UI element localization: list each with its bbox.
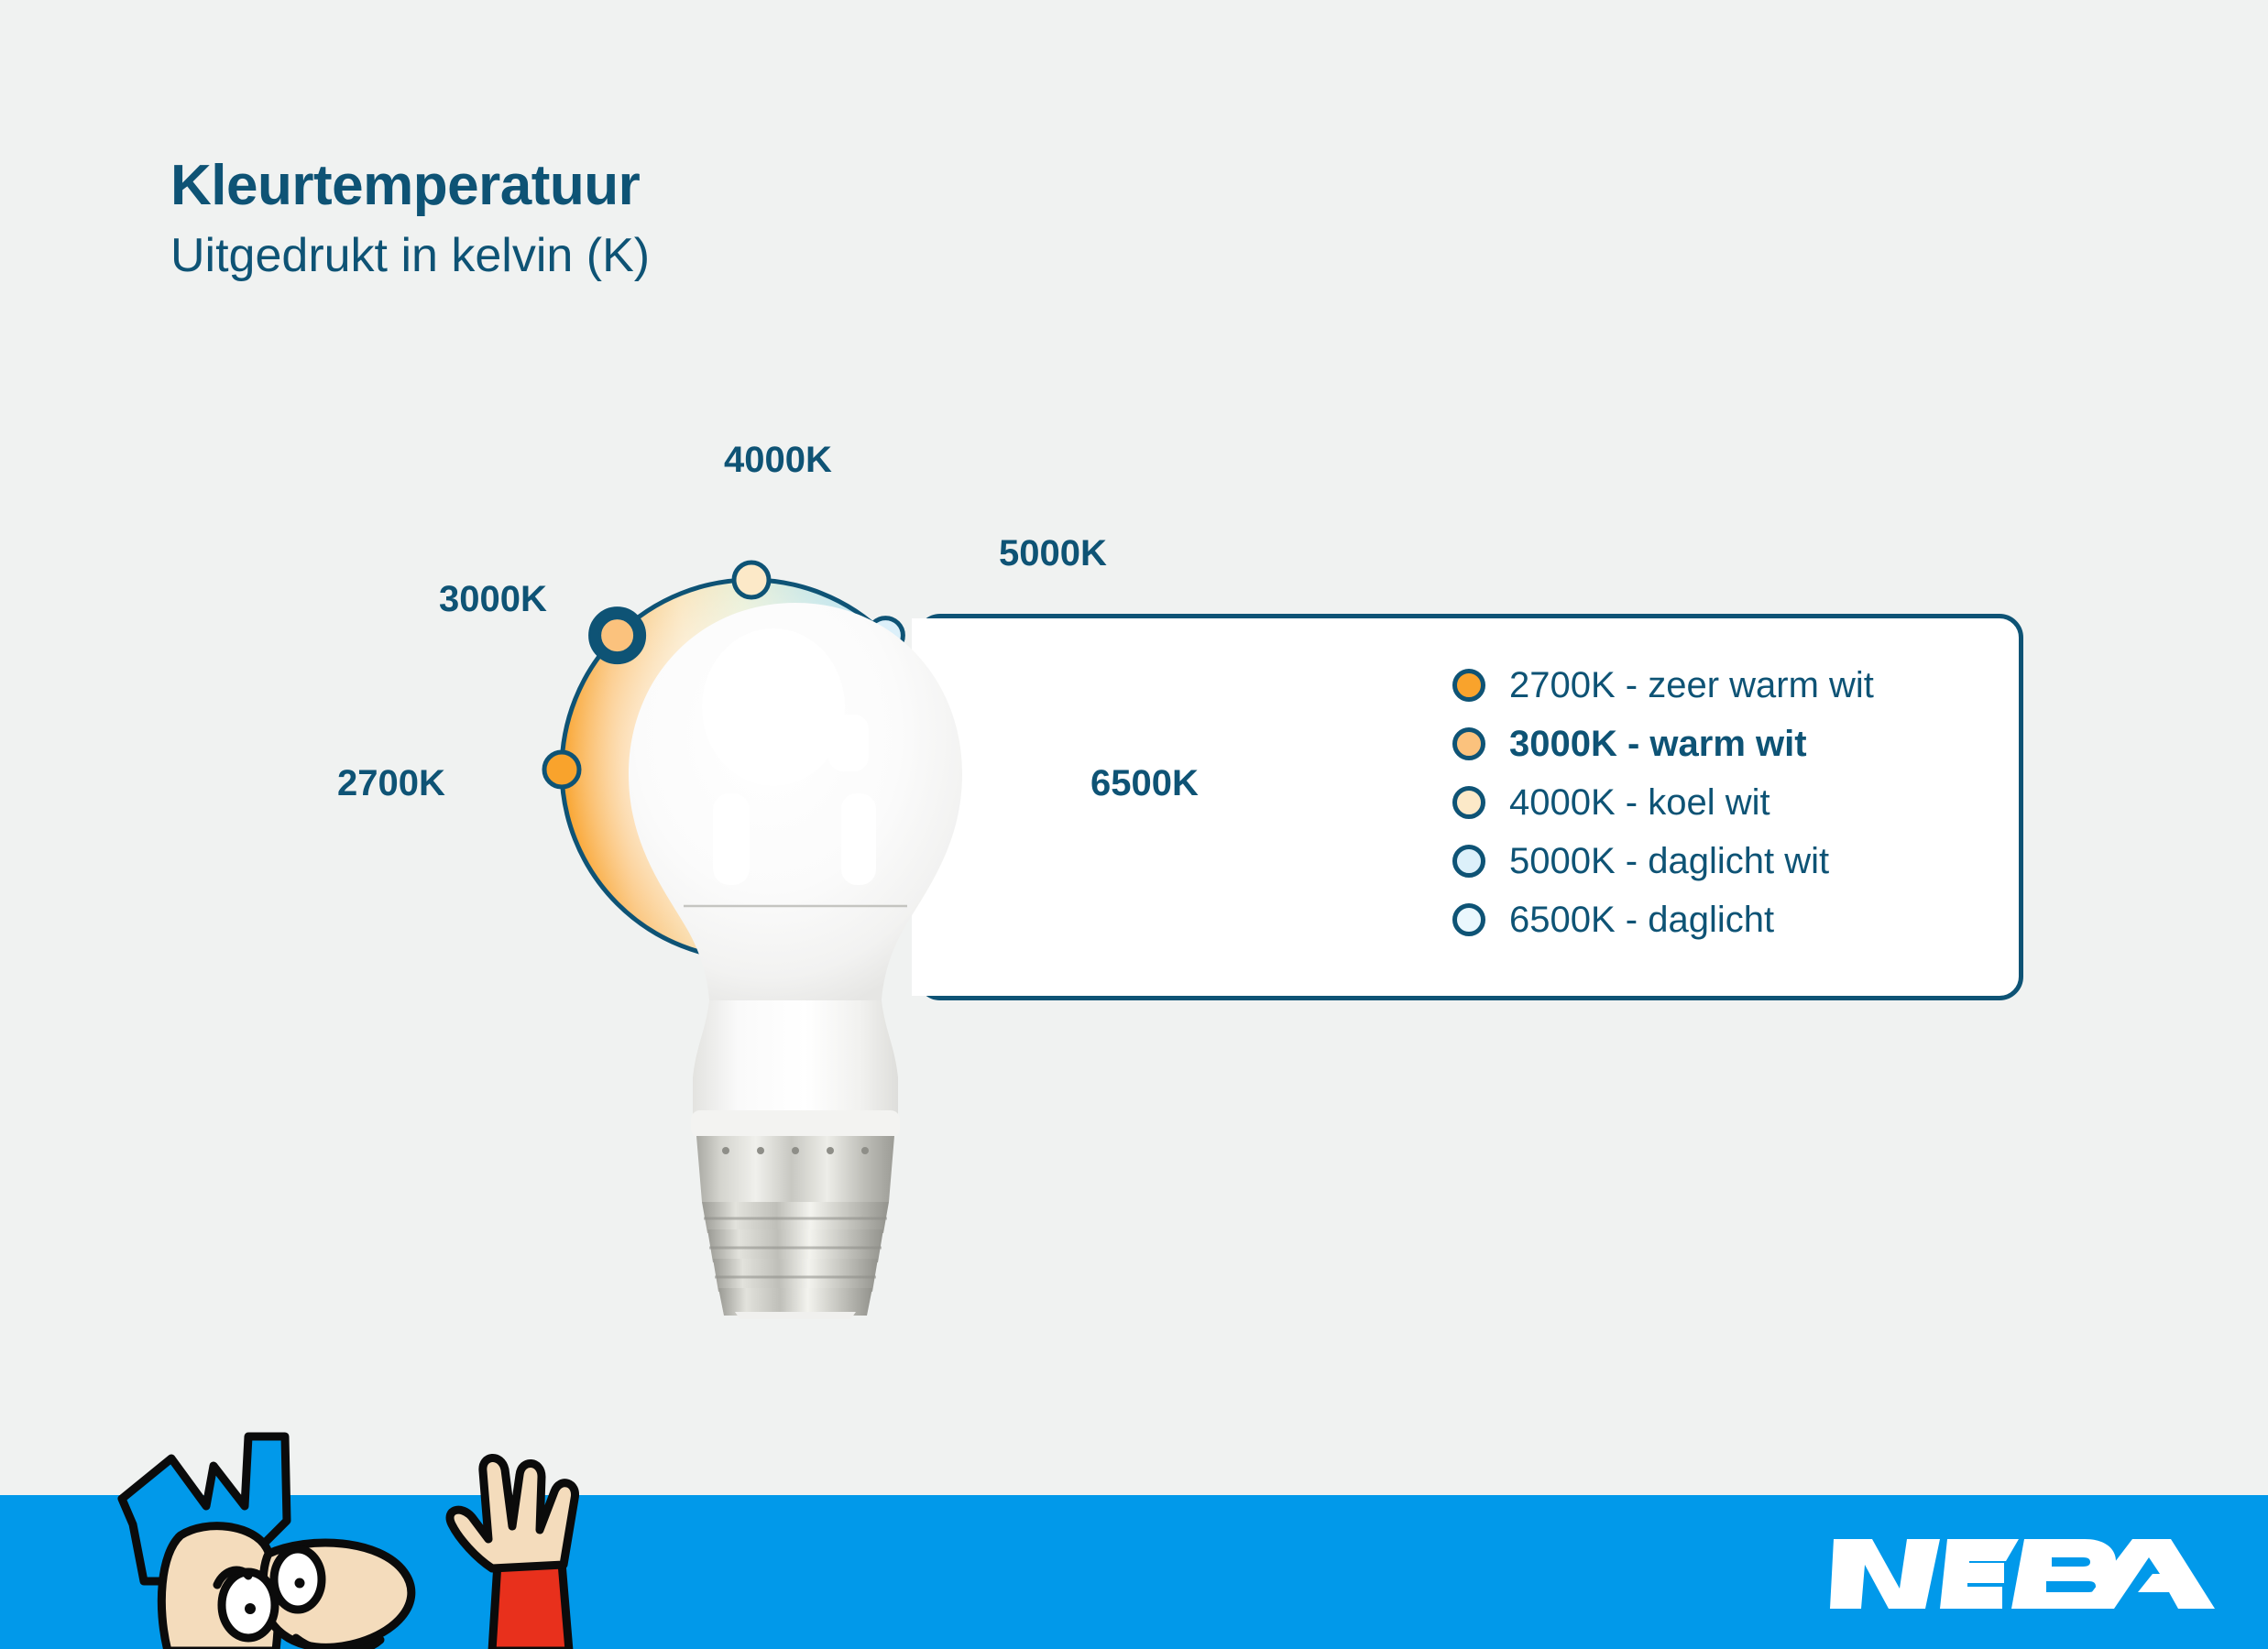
bulb-base-dot <box>792 1147 799 1154</box>
weba-mascot <box>69 1411 637 1649</box>
legend-dot-2700k <box>1452 669 1485 702</box>
legend-label-2700k: 2700K - zeer warm wit <box>1509 665 1874 706</box>
bulb-base-dot <box>827 1147 834 1154</box>
legend-list: 2700K - zeer warm wit 3000K - warm wit 4… <box>1452 656 1874 949</box>
legend-item-3000k[interactable]: 3000K - warm wit <box>1452 715 1874 773</box>
bulb-highlight-right <box>841 793 876 885</box>
legend-label-4000k: 4000K - koel wit <box>1509 782 1770 824</box>
mascot-sleeve <box>492 1563 569 1649</box>
weba-logo-letter-e <box>1940 1539 2019 1609</box>
legend-dot-3000k <box>1452 727 1485 760</box>
bulb-base-tip <box>735 1312 856 1319</box>
bulb-screw-thread <box>702 1202 889 1316</box>
weba-logo-letter-w <box>1830 1539 1940 1609</box>
mascot-pupil-right <box>295 1578 305 1589</box>
light-bulb-illustration <box>612 586 979 1319</box>
bulb-highlight-main <box>702 628 845 786</box>
mascot-hand <box>450 1458 575 1568</box>
legend-label-3000k: 3000K - warm wit <box>1509 724 1807 765</box>
legend-item-2700k[interactable]: 2700K - zeer warm wit <box>1452 656 1874 715</box>
ring-label-4000k: 4000K <box>724 440 832 481</box>
legend-label-6500k: 6500K - daglicht <box>1509 900 1774 941</box>
ring-label-5000k: 5000K <box>999 533 1107 574</box>
legend-dot-4000k <box>1452 786 1485 819</box>
bulb-base-dot <box>757 1147 764 1154</box>
legend-dot-5000k <box>1452 845 1485 878</box>
bulb-neck <box>693 1000 898 1123</box>
ring-label-2700k: 2700K <box>337 763 445 804</box>
legend-dot-6500k <box>1452 903 1485 936</box>
ring-marker-2700k <box>544 752 579 787</box>
bulb-base-dot <box>722 1147 729 1154</box>
weba-logo: WEBA <box>1830 1521 2215 1622</box>
legend-item-4000k[interactable]: 4000K - koel wit <box>1452 773 1874 832</box>
page-title: Kleurtemperatuur <box>170 156 1270 215</box>
bulb-highlight-left <box>713 793 750 885</box>
mascot-pupil-left <box>245 1603 256 1614</box>
ring-label-6500k: 6500K <box>1090 763 1199 804</box>
ring-label-3000k: 3000K <box>439 579 547 620</box>
bulb-base-dot <box>861 1147 869 1154</box>
bulb-highlight-top <box>828 715 869 771</box>
bulb-neck-collar <box>691 1110 900 1138</box>
header: Kleurtemperatuur Uitgedrukt in kelvin (K… <box>170 156 1270 282</box>
legend-item-5000k[interactable]: 5000K - daglicht wit <box>1452 832 1874 890</box>
bulb-base-collar <box>696 1136 894 1202</box>
page-subtitle: Uitgedrukt in kelvin (K) <box>170 230 1270 282</box>
legend-item-6500k[interactable]: 6500K - daglicht <box>1452 890 1874 949</box>
infographic-canvas: Kleurtemperatuur Uitgedrukt in kelvin (K… <box>0 0 2268 1649</box>
legend-label-5000k: 5000K - daglicht wit <box>1509 841 1829 882</box>
